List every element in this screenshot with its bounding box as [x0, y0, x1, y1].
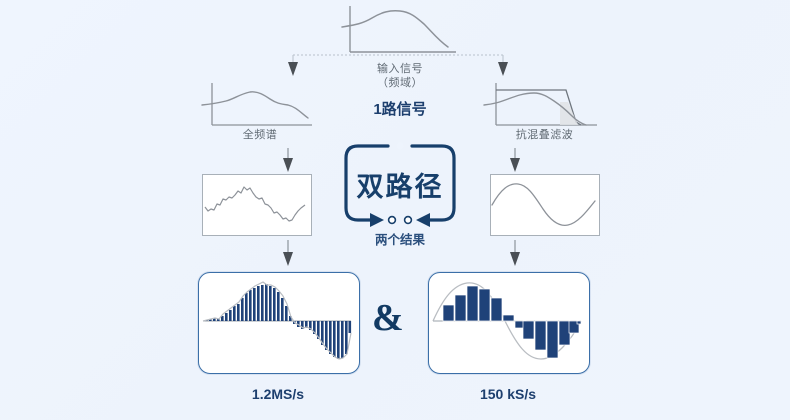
- down-arrow-icon: [288, 62, 298, 76]
- antialias-filter-caption: 抗混叠滤波: [487, 128, 602, 142]
- full-spectrum-caption: 全频谱: [205, 128, 315, 142]
- split-connector: [285, 42, 520, 80]
- arrow-right-branch-1: [505, 148, 525, 174]
- down-arrow-icon: [510, 252, 520, 266]
- down-arrow-icon: [283, 158, 293, 172]
- rate-label-fast: 1.2MS/s: [198, 386, 358, 402]
- down-arrow-icon: [498, 62, 508, 76]
- full-spectrum-plot: [200, 80, 315, 132]
- down-arrow-icon: [510, 158, 520, 172]
- noise-waveform: [205, 187, 305, 221]
- dot-icon: [389, 217, 396, 224]
- full-spectrum-chart: [200, 80, 315, 132]
- wideband-timeseries-box: [202, 174, 312, 236]
- input-path-count-label: 1路信号: [340, 101, 460, 119]
- conjunction-symbol: &: [372, 299, 404, 337]
- dot-icon: [405, 217, 412, 224]
- diagram-canvas: 输入信号 （频域） 1路信号 全频谱: [0, 0, 790, 420]
- dual-path-label: 双路径: [340, 165, 460, 204]
- result-panel-fast: [198, 272, 360, 374]
- full-spectrum-curve: [202, 92, 308, 118]
- down-arrow-icon: [283, 252, 293, 266]
- filtered-sine-plot: [491, 175, 597, 233]
- result-panel-slow: [428, 272, 590, 374]
- inward-arrow-icon: [370, 213, 384, 227]
- result-slow-plot: [429, 273, 585, 369]
- arrow-left-branch-1: [278, 148, 298, 174]
- two-results-label: 两个结果: [340, 232, 460, 248]
- antialias-filter-plot: [482, 80, 602, 132]
- slow-bars: [443, 286, 581, 358]
- sine-waveform: [492, 184, 595, 225]
- rate-label-slow: 150 kS/s: [428, 386, 588, 402]
- result-fast-plot: [199, 273, 355, 369]
- antialias-filter-chart: [482, 80, 602, 132]
- arrow-left-branch-2: [278, 240, 298, 268]
- arrow-right-branch-2: [505, 240, 525, 268]
- inward-arrow-icon: [416, 213, 430, 227]
- bracket-top-gap: [397, 143, 404, 150]
- wideband-timeseries-plot: [203, 175, 309, 233]
- filtered-sine-box: [490, 174, 600, 236]
